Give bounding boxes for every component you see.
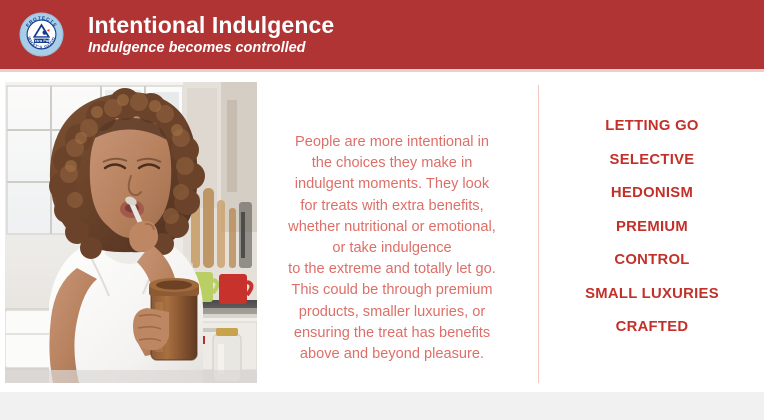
page-subtitle: Indulgence becomes controlled	[88, 39, 306, 57]
keyword-item: CRAFTED	[545, 319, 759, 335]
slide: PROTECTS WHAT'S GOOD Tetra Pak Intention…	[0, 0, 764, 392]
keyword-item: SMALL LUXURIES	[545, 286, 759, 302]
body-paragraph: People are more intentional in the choic…	[268, 132, 516, 365]
bottom-gutter	[0, 392, 764, 420]
keyword-item: PREMIUM	[545, 219, 759, 235]
indulgence-photo	[5, 82, 257, 383]
keyword-item: HEDONISM	[545, 185, 759, 201]
header-underline	[0, 69, 764, 72]
tetra-pak-logo-icon: PROTECTS WHAT'S GOOD Tetra Pak	[19, 12, 64, 57]
svg-text:Tetra Pak: Tetra Pak	[33, 39, 51, 43]
page-title: Intentional Indulgence	[88, 12, 334, 38]
keyword-list: LETTING GO SELECTIVE HEDONISM PREMIUM CO…	[545, 118, 759, 335]
vertical-divider	[538, 85, 539, 383]
keyword-item: SELECTIVE	[545, 152, 759, 168]
keyword-item: CONTROL	[545, 252, 759, 268]
keyword-item: LETTING GO	[545, 118, 759, 134]
